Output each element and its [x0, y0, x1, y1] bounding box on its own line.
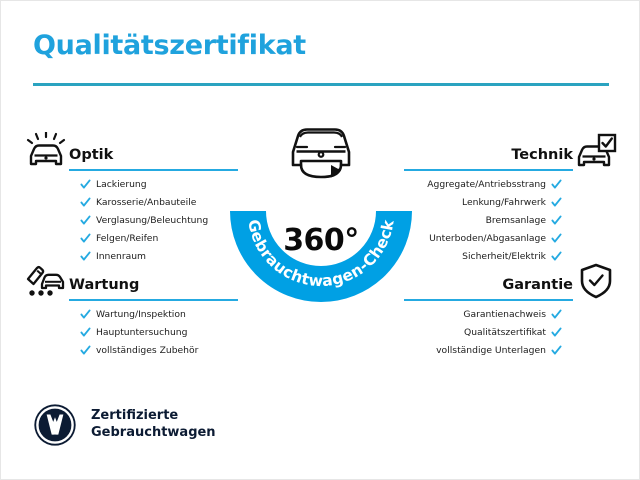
list-item-label: Garantienachweis: [463, 310, 546, 319]
check-icon: [80, 179, 91, 190]
check-icon: [551, 179, 562, 190]
list-item-label: vollständiges Zubehör: [96, 346, 198, 355]
section-garantie-title: Garantie: [404, 278, 573, 299]
list-item: Wartung/Inspektion: [80, 309, 238, 320]
section-garantie-header: Garantie: [404, 259, 619, 301]
section-wartung-title: Wartung: [69, 278, 238, 299]
section-wartung-header: Wartung: [23, 259, 238, 301]
section-wartung-title-wrap: Wartung: [69, 278, 238, 301]
footer-line-2: Gebrauchtwagen: [91, 425, 216, 442]
section-wartung-list: Wartung/Inspektion Hauptuntersuchung vol…: [23, 309, 238, 356]
left-column: Optik Lackierung Karosserie/Anbauteile V…: [23, 129, 238, 359]
list-item: Lenkung/Fahrwerk: [404, 197, 562, 208]
list-item: Felgen/Reifen: [80, 233, 238, 244]
list-item-label: Lenkung/Fahrwerk: [462, 198, 546, 207]
list-item-label: Unterboden/Abgasanlage: [429, 234, 546, 243]
list-item-label: Wartung/Inspektion: [96, 310, 186, 319]
section-technik-list: Aggregate/Antriebsstrang Lenkung/Fahrwer…: [404, 179, 619, 262]
section-garantie-title-wrap: Garantie: [404, 278, 573, 301]
list-item-label: vollständige Unterlagen: [436, 346, 546, 355]
section-technik-header: Technik: [404, 129, 619, 171]
list-item-label: Lackierung: [96, 180, 147, 189]
list-item-label: Verglasung/Beleuchtung: [96, 216, 208, 225]
list-item: Verglasung/Beleuchtung: [80, 215, 238, 226]
section-optik-header: Optik: [23, 129, 238, 171]
service-book-pen-car-icon: [23, 261, 69, 301]
section-optik-title-wrap: Optik: [69, 148, 238, 171]
section-optik-list: Lackierung Karosserie/Anbauteile Verglas…: [23, 179, 238, 262]
car-rotate-icon: [279, 121, 363, 185]
page-title: Qualitätszertifikat: [33, 31, 609, 61]
check-icon: [551, 345, 562, 356]
list-item: Bremsanlage: [404, 215, 562, 226]
section-wartung-divider: [69, 299, 238, 302]
section-optik: Optik Lackierung Karosserie/Anbauteile V…: [23, 129, 238, 259]
vw-logo: [33, 403, 77, 447]
section-optik-divider: [69, 169, 238, 172]
check-icon: [80, 233, 91, 244]
footer-line-1: Zertifizierte: [91, 408, 216, 425]
list-item: Garantienachweis: [404, 309, 562, 320]
car-checkbox-icon: [573, 131, 619, 171]
list-item: vollständige Unterlagen: [404, 345, 562, 356]
list-item: vollständiges Zubehör: [80, 345, 238, 356]
section-technik-title-wrap: Technik: [404, 148, 573, 171]
qualitaetszertifikat-page: Qualitätszertifikat: [0, 0, 640, 480]
check-icon: [551, 215, 562, 226]
list-item-label: Bremsanlage: [486, 216, 546, 225]
section-technik: Technik Aggregate/Antriebsstrang Lenkung…: [404, 129, 619, 259]
section-wartung: Wartung Wartung/Inspektion Hauptuntersuc…: [23, 259, 238, 359]
footer-text: Zertifizierte Gebrauchtwagen: [91, 408, 216, 441]
right-column: Technik Aggregate/Antriebsstrang Lenkung…: [404, 129, 619, 359]
check-icon: [80, 215, 91, 226]
check-icon: [551, 327, 562, 338]
page-header: Qualitätszertifikat: [33, 31, 609, 86]
list-item-label: Felgen/Reifen: [96, 234, 158, 243]
header-divider: [33, 83, 609, 86]
list-item-label: Karosserie/Anbauteile: [96, 198, 196, 207]
list-item-label: Hauptuntersuchung: [96, 328, 187, 337]
section-optik-title: Optik: [69, 148, 238, 169]
check-icon: [80, 345, 91, 356]
badge-360-gebrauchtwagen-check: Gebrauchtwagen-Check 360°: [230, 121, 412, 311]
section-technik-divider: [404, 169, 573, 172]
list-item: Hauptuntersuchung: [80, 327, 238, 338]
section-technik-title: Technik: [404, 148, 573, 169]
section-garantie-divider: [404, 299, 573, 302]
check-icon: [80, 197, 91, 208]
check-icon: [551, 309, 562, 320]
check-icon: [551, 233, 562, 244]
section-garantie: Garantie Garantienachweis Qualitätszerti…: [404, 259, 619, 359]
check-icon: [80, 327, 91, 338]
list-item: Lackierung: [80, 179, 238, 190]
list-item: Aggregate/Antriebsstrang: [404, 179, 562, 190]
shield-check-icon: [573, 261, 619, 301]
section-garantie-list: Garantienachweis Qualitätszertifikat vol…: [404, 309, 619, 356]
badge-value: 360°: [230, 223, 412, 258]
list-item-label: Aggregate/Antriebsstrang: [427, 180, 546, 189]
check-icon: [80, 309, 91, 320]
list-item-label: Qualitätszertifikat: [464, 328, 546, 337]
footer-brand: Zertifizierte Gebrauchtwagen: [33, 403, 216, 447]
list-item: Qualitätszertifikat: [404, 327, 562, 338]
list-item: Karosserie/Anbauteile: [80, 197, 238, 208]
car-shine-icon: [23, 131, 69, 171]
check-icon: [551, 197, 562, 208]
list-item: Unterboden/Abgasanlage: [404, 233, 562, 244]
